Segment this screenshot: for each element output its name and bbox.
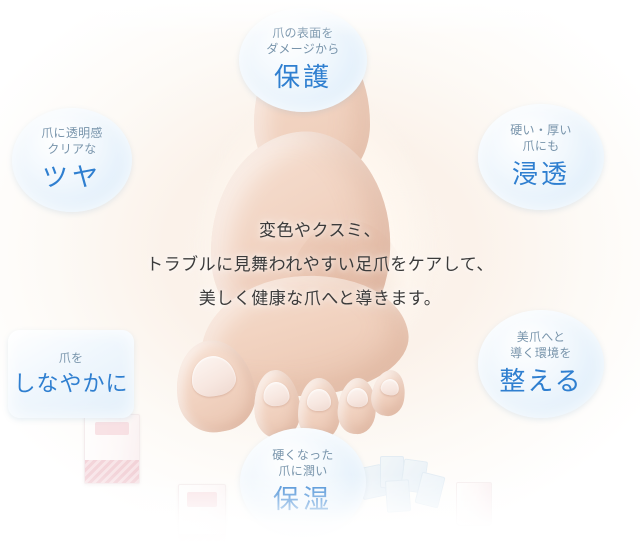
benefit-penetrate-sub-1: 硬い・厚い bbox=[510, 122, 572, 138]
copy-line-1: 変色やクスミ、 bbox=[70, 214, 570, 248]
copy-line-2: トラブルに見舞われやすい足爪をケアして、 bbox=[70, 248, 570, 282]
benefit-penetrate-sub-2: 爪にも bbox=[523, 138, 560, 154]
benefit-protect-title: 保護 bbox=[274, 60, 332, 95]
copy-line-3: 美しく健康な爪へと導きます。 bbox=[70, 282, 570, 316]
benefit-tsuya-sub-2: クリアな bbox=[47, 141, 96, 157]
benefit-protect-sub-2: ダメージから bbox=[266, 41, 339, 57]
benefit-supple-sub-1: 爪を bbox=[59, 350, 84, 366]
benefit-supple-title: しなやかに bbox=[13, 369, 128, 399]
product-box-1-cap bbox=[95, 422, 130, 436]
top-fade-overlay bbox=[0, 0, 640, 36]
toenail-little bbox=[379, 378, 400, 397]
bottom-fade-overlay bbox=[0, 474, 640, 544]
benefit-tsuya-title: ツヤ bbox=[42, 160, 102, 195]
benefit-arrange-sub-1: 美爪へと bbox=[517, 329, 566, 345]
benefit-bubble-supple: 爪を しなやかに bbox=[8, 330, 134, 418]
benefit-bubble-penetrate: 硬い・厚い 爪にも 浸透 bbox=[478, 104, 604, 210]
toenail-big bbox=[188, 353, 238, 400]
toenail-third bbox=[307, 389, 331, 411]
toenail-fourth bbox=[346, 387, 368, 407]
marketing-copy: 変色やクスミ、 トラブルに見舞われやすい足爪をケアして、 美しく健康な爪へと導き… bbox=[70, 214, 570, 316]
toenail-second bbox=[262, 381, 290, 407]
benefit-tsuya-sub-1: 爪に透明感 bbox=[41, 125, 103, 141]
benefit-bubble-tsuya: 爪に透明感 クリアな ツヤ bbox=[12, 108, 132, 212]
benefit-bubble-arrange: 美爪へと 導く環境を 整える bbox=[478, 310, 604, 418]
benefit-moisture-sub-1: 硬くなった bbox=[272, 447, 334, 463]
benefit-penetrate-title: 浸透 bbox=[512, 157, 570, 192]
banner-canvas: 変色やクスミ、 トラブルに見舞われやすい足爪をケアして、 美しく健康な爪へと導き… bbox=[0, 0, 640, 544]
benefit-arrange-sub-2: 導く環境を bbox=[510, 345, 572, 361]
benefit-arrange-title: 整える bbox=[499, 364, 582, 399]
